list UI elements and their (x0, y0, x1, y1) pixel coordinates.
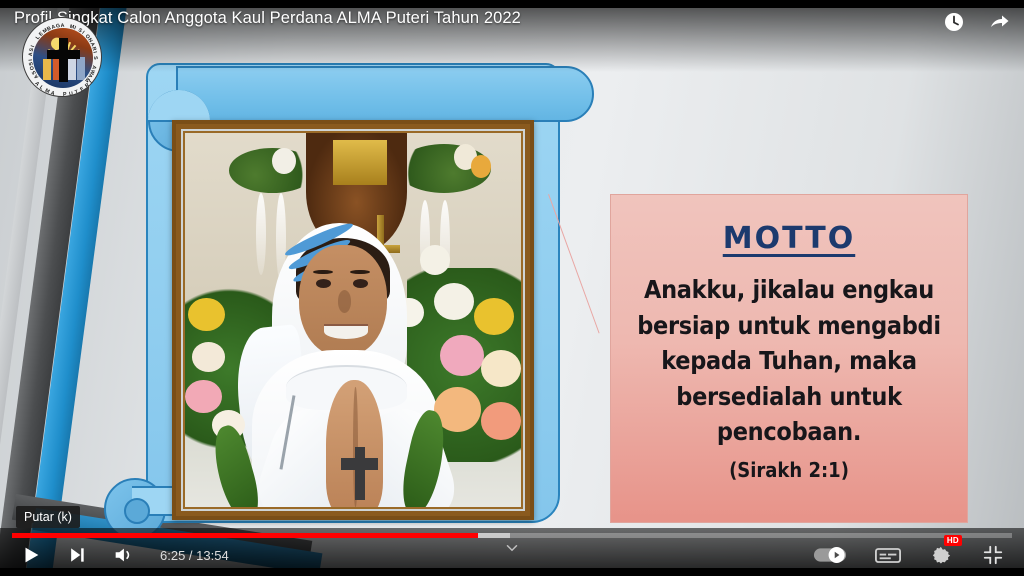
top-right-actions[interactable] (942, 10, 1012, 34)
motto-quote-line: Anakku, jikalau engkau (625, 272, 953, 308)
motto-quote: Anakku, jikalau engkau bersiap untuk men… (625, 272, 953, 450)
motto-quote-line: bersedialah untuk pencobaan. (625, 379, 953, 450)
autoplay-toggle[interactable] (812, 542, 848, 568)
alma-puteri-logo[interactable]: ASOSIASI LEMBAGA MISIONARIS AWAMALMA PUT… (22, 17, 102, 97)
scroll-banner-top-bar (176, 66, 594, 122)
quality-badge: HD (944, 535, 962, 546)
presentation-slide: MOTTO Anakku, jikalau engkau bersiap unt… (0, 8, 1024, 568)
video-player[interactable]: MOTTO Anakku, jikalau engkau bersiap unt… (0, 0, 1024, 576)
controls-right-group[interactable]: HD (812, 538, 1006, 572)
watch-later-icon[interactable] (942, 10, 966, 34)
next-video-button[interactable] (64, 542, 90, 568)
play-tooltip: Putar (k) (16, 506, 80, 528)
play-button[interactable] (18, 542, 44, 568)
motto-scripture-reference: (Sirakh 2:1) (625, 458, 953, 482)
motto-panel: MOTTO Anakku, jikalau engkau bersiap unt… (610, 194, 968, 523)
share-icon[interactable] (988, 10, 1012, 34)
scroll-curl-bottom-dot (124, 498, 150, 524)
controls-left-group[interactable]: 6:25 / 13:54 (18, 538, 229, 572)
subtitles-button[interactable] (874, 542, 902, 568)
player-controls[interactable]: Putar (k) 6:25 / 13:54 (0, 528, 1024, 576)
motto-quote-line: bersiap untuk mengabdi (625, 308, 953, 344)
portrait-frame-inner (181, 129, 525, 511)
logo-ring-text: ASOSIASI LEMBAGA MISIONARIS AWAMALMA PUT… (23, 18, 102, 97)
motto-heading: MOTTO (625, 221, 953, 256)
motto-quote-line: kepada Tuhan, maka (625, 343, 953, 379)
volume-button[interactable] (110, 542, 136, 568)
time-display: 6:25 / 13:54 (160, 548, 229, 563)
portrait-frame (172, 120, 534, 520)
candidate-portrait (185, 133, 521, 507)
exit-fullscreen-button[interactable] (980, 542, 1006, 568)
settings-button[interactable]: HD (928, 542, 954, 568)
chevron-down-icon[interactable] (503, 539, 521, 562)
